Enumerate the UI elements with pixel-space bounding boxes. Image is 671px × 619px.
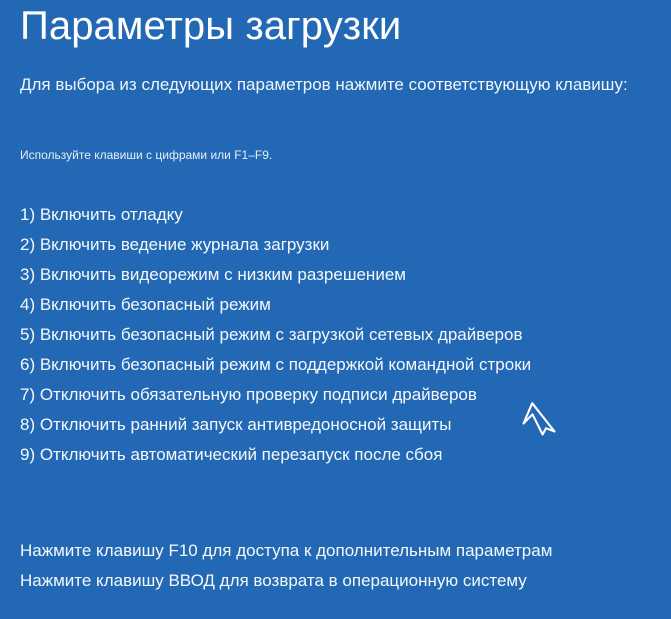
- boot-options-list: 1) Включить отладку 2) Включить ведение …: [20, 200, 640, 470]
- boot-option-6[interactable]: 6) Включить безопасный режим с поддержко…: [20, 350, 640, 380]
- advanced-options-hint[interactable]: Нажмите клавишу F10 для доступа к дополн…: [20, 536, 640, 566]
- return-to-os-hint[interactable]: Нажмите клавишу ВВОД для возврата в опер…: [20, 566, 640, 596]
- boot-option-9[interactable]: 9) Отключить автоматический перезапуск п…: [20, 440, 640, 470]
- boot-option-8[interactable]: 8) Отключить ранний запуск антивредоносн…: [20, 410, 640, 440]
- boot-option-2[interactable]: 2) Включить ведение журнала загрузки: [20, 230, 640, 260]
- boot-option-1[interactable]: 1) Включить отладку: [20, 200, 640, 230]
- footer-actions: Нажмите клавишу F10 для доступа к дополн…: [20, 536, 640, 596]
- intro-instruction-text: Для выбора из следующих параметров нажми…: [20, 70, 636, 99]
- boot-option-3[interactable]: 3) Включить видеорежим с низким разрешен…: [20, 260, 640, 290]
- boot-option-5[interactable]: 5) Включить безопасный режим с загрузкой…: [20, 320, 640, 350]
- page-title: Параметры загрузки: [20, 2, 401, 50]
- boot-options-screen: Параметры загрузки Для выбора из следующ…: [0, 0, 671, 619]
- boot-option-7[interactable]: 7) Отключить обязательную проверку подпи…: [20, 380, 640, 410]
- boot-option-4[interactable]: 4) Включить безопасный режим: [20, 290, 640, 320]
- keyboard-hint-text: Используйте клавиши с цифрами или F1–F9.: [20, 146, 272, 164]
